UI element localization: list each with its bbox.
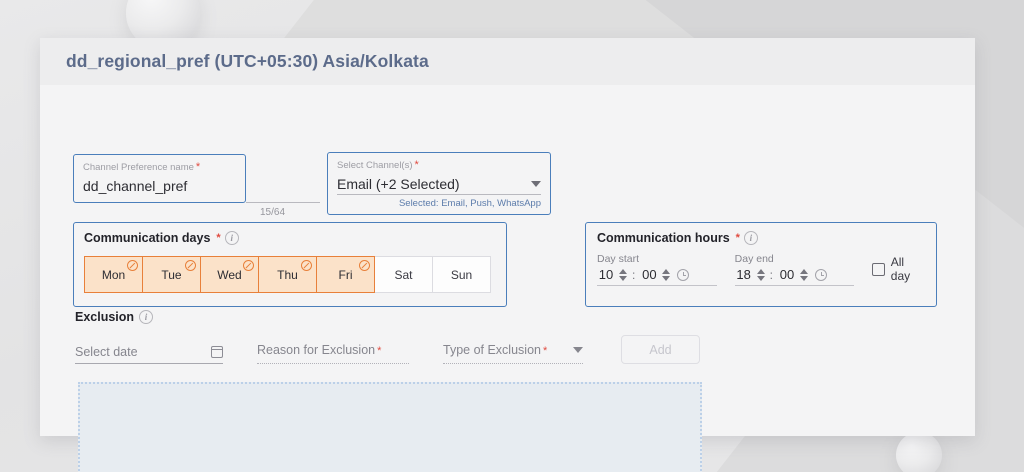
exclusion-type-field[interactable]: Type of Exclusion* [443,341,583,364]
required-asterisk: * [216,232,220,244]
info-icon[interactable]: i [225,231,239,245]
exclusion-type-label-wrap: Type of Exclusion* [443,341,547,359]
chevron-up-icon[interactable] [619,269,627,274]
day-start-hour[interactable]: 10 [597,267,615,282]
channel-preference-name-label-text: Channel Preference name [83,162,194,173]
select-channels-label: Select Channel(s)* [337,159,541,172]
chevron-down-icon[interactable] [757,276,765,281]
add-exclusion-button[interactable]: Add [621,335,700,364]
chevron-down-icon[interactable] [531,181,541,187]
channel-preference-name-counter: 15/64 [260,207,285,218]
background-sphere-bottom [896,432,942,472]
card-body: Channel Preference name* dd_channel_pref… [40,85,975,436]
required-asterisk: * [196,161,200,173]
communication-hours-title-text: Communication hours [597,231,730,245]
day-start-label: Day start [597,253,717,265]
exclusion-reason-label: Reason for Exclusion [257,343,375,357]
chevron-up-icon[interactable] [800,269,808,274]
day-end-hour-stepper[interactable] [757,269,765,281]
required-asterisk: * [377,345,381,357]
check-circle-icon [359,260,370,271]
exclusion-type-label: Type of Exclusion [443,343,541,357]
communication-hours-title: Communication hours* i [597,231,925,245]
select-channels-value: Email (+2 Selected) [337,176,460,192]
card-header: dd_regional_pref (UTC+05:30) Asia/Kolkat… [40,38,975,85]
communication-days-row: Mon Tue Wed Thu Fri [84,256,496,293]
day-chip-label: Sun [451,268,472,282]
day-end-label: Day end [735,253,855,265]
communication-days-panel: Communication days* i Mon Tue Wed Thu [73,222,507,307]
chevron-down-icon[interactable] [619,276,627,281]
info-icon[interactable]: i [744,231,758,245]
day-start-minute-stepper[interactable] [662,269,670,281]
exclusion-list-dropzone [78,382,702,472]
day-start-hour-stepper[interactable] [619,269,627,281]
check-circle-icon [301,260,312,271]
day-end-minute[interactable]: 00 [778,267,796,282]
day-end-field[interactable]: 18 : 00 [735,267,855,286]
check-circle-icon [185,260,196,271]
info-icon[interactable]: i [139,310,153,324]
day-start-minute[interactable]: 00 [640,267,658,282]
page-title: dd_regional_pref (UTC+05:30) Asia/Kolkat… [66,51,429,72]
channel-preference-name-label: Channel Preference name* [83,161,236,174]
required-asterisk: * [736,232,740,244]
day-end-group: Day end 18 : 00 [735,253,855,286]
day-chip-label: Thu [277,268,298,282]
all-day-label: All day [891,255,925,283]
calendar-icon[interactable] [211,346,223,358]
check-circle-icon [127,260,138,271]
day-chip-mon[interactable]: Mon [84,256,143,293]
day-chip-sat[interactable]: Sat [374,256,433,293]
day-chip-sun[interactable]: Sun [432,256,491,293]
chevron-up-icon[interactable] [662,269,670,274]
day-chip-label: Sat [394,268,412,282]
day-chip-label: Tue [161,268,181,282]
day-chip-thu[interactable]: Thu [258,256,317,293]
chevron-down-icon[interactable] [800,276,808,281]
day-chip-label: Fri [339,268,353,282]
chevron-down-icon[interactable] [573,347,583,353]
time-separator: : [770,268,773,282]
communication-days-title: Communication days* i [84,231,496,245]
communication-hours-panel: Communication hours* i Day start 10 : 00 [585,222,937,307]
clock-icon[interactable] [677,269,689,281]
day-end-minute-stepper[interactable] [800,269,808,281]
channel-preference-name-underline [246,202,320,203]
day-chip-tue[interactable]: Tue [142,256,201,293]
clock-icon[interactable] [815,269,827,281]
day-chip-label: Wed [217,268,241,282]
select-channels-label-text: Select Channel(s) [337,160,413,171]
exclusion-date-placeholder: Select date [75,345,138,359]
communication-days-title-text: Communication days [84,231,210,245]
day-chip-label: Mon [102,268,125,282]
check-circle-icon [243,260,254,271]
exclusion-reason-field[interactable]: Reason for Exclusion* [257,341,409,364]
channel-preference-name-input[interactable]: dd_channel_pref [83,178,236,194]
time-separator: : [632,268,635,282]
all-day-checkbox[interactable] [872,263,884,276]
exclusion-date-field[interactable]: Select date [75,345,223,364]
day-chip-fri[interactable]: Fri [316,256,375,293]
select-channels-control[interactable]: Email (+2 Selected) [337,172,541,195]
all-day-checkbox-group[interactable]: All day [872,255,925,283]
channel-preference-name-field[interactable]: Channel Preference name* dd_channel_pref [73,154,246,203]
exclusion-row: Select date Reason for Exclusion* Type o… [75,335,700,364]
required-asterisk: * [543,345,547,357]
chevron-down-icon[interactable] [662,276,670,281]
day-start-field[interactable]: 10 : 00 [597,267,717,286]
select-channels-field[interactable]: Select Channel(s)* Email (+2 Selected) S… [327,152,551,215]
day-chip-wed[interactable]: Wed [200,256,259,293]
day-start-group: Day start 10 : 00 [597,253,717,286]
exclusion-title: Exclusion i [75,310,153,324]
select-channels-hint: Selected: Email, Push, WhatsApp [337,198,541,209]
chevron-up-icon[interactable] [757,269,765,274]
required-asterisk: * [415,159,419,171]
communication-hours-row: Day start 10 : 00 Day end 18 [597,253,925,286]
exclusion-title-text: Exclusion [75,310,134,324]
day-end-hour[interactable]: 18 [735,267,753,282]
regional-preference-card: dd_regional_pref (UTC+05:30) Asia/Kolkat… [40,38,975,436]
